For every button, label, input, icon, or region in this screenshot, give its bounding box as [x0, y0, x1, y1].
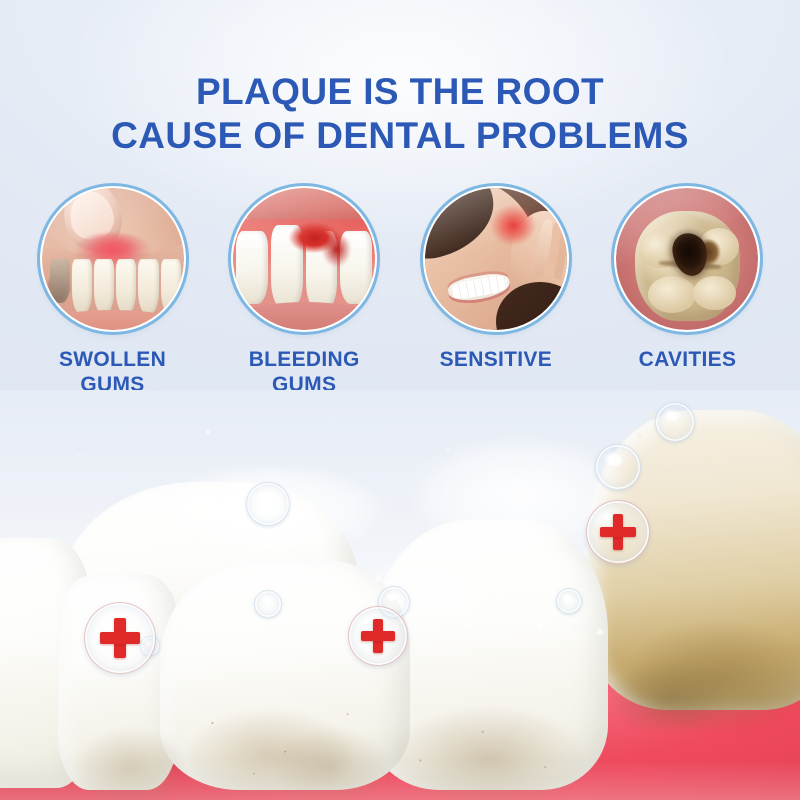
symptom-item-bleeding-gums[interactable]: BLEEDING GUMS — [222, 188, 387, 403]
symptom-item-cavities[interactable]: CAVITIES — [605, 188, 770, 403]
plaque-specks — [150, 690, 670, 800]
headline-line-1: PLAQUE IS THE ROOT — [196, 71, 604, 112]
plaque-marker-left[interactable] — [84, 602, 156, 674]
bubble-icon — [655, 402, 695, 442]
symptom-thumbnail-cavities[interactable] — [616, 188, 758, 330]
symptom-thumbnail-bleeding-gums[interactable] — [233, 188, 375, 330]
symptom-thumbnail-swollen-gums[interactable] — [42, 188, 184, 330]
bubble-icon — [556, 588, 582, 614]
symptom-label-line-1: SENSITIVE — [440, 348, 552, 371]
plaque-teeth-scene — [0, 390, 800, 800]
symptom-item-sensitive[interactable]: SENSITIVE — [413, 188, 578, 403]
symptom-label-line-1: BLEEDING — [249, 348, 360, 371]
bleeding-gums-image — [233, 188, 375, 330]
symptom-list: SWOLLEN GUMS BLEEDING GUMS — [0, 188, 800, 403]
plaque-marker-center[interactable] — [348, 606, 408, 666]
dental-infographic-poster: PLAQUE IS THE ROOT CAUSE OF DENTAL PROBL… — [0, 0, 800, 800]
swollen-gums-image — [42, 188, 184, 330]
bubble-icon — [595, 444, 641, 490]
red-cross-icon — [361, 619, 395, 653]
cavity-image — [616, 188, 758, 330]
symptom-label-sensitive: SENSITIVE — [440, 347, 552, 372]
sensitive-tooth-image — [425, 188, 567, 330]
plaque-marker-right[interactable] — [586, 500, 650, 564]
symptom-thumbnail-sensitive[interactable] — [425, 188, 567, 330]
symptom-label-cavities: CAVITIES — [639, 347, 737, 372]
symptom-label-line-1: CAVITIES — [639, 348, 737, 371]
bubble-icon — [246, 482, 290, 526]
headline-line-2: CAUSE OF DENTAL PROBLEMS — [0, 114, 800, 158]
symptom-item-swollen-gums[interactable]: SWOLLEN GUMS — [30, 188, 195, 403]
bubble-icon — [254, 590, 282, 618]
page-title: PLAQUE IS THE ROOT CAUSE OF DENTAL PROBL… — [0, 70, 800, 158]
red-cross-icon — [100, 618, 141, 659]
symptom-label-line-1: SWOLLEN — [59, 348, 166, 371]
red-cross-icon — [600, 514, 636, 550]
